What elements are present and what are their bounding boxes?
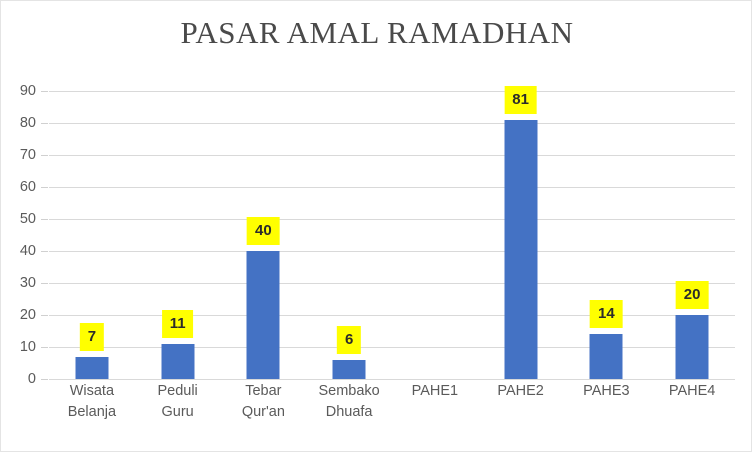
bar-data-label: 7 xyxy=(80,323,104,351)
x-axis-tick-label: TebarQur'an xyxy=(221,381,307,423)
x-axis-tick-label: PAHE1 xyxy=(392,381,478,402)
y-axis-tick-label: 30 xyxy=(0,275,36,291)
bar-data-label: 11 xyxy=(162,310,194,338)
x-axis-tick-label: PAHE4 xyxy=(649,381,735,402)
bar[interactable] xyxy=(75,357,108,379)
y-axis-tick-label: 20 xyxy=(0,307,36,323)
bar-slot: 11 xyxy=(135,91,221,379)
x-axis-tick-label-line: PAHE4 xyxy=(649,381,735,402)
bar[interactable] xyxy=(676,315,709,379)
x-axis-tick-label: PAHE3 xyxy=(564,381,650,402)
bar-slot: 40 xyxy=(221,91,307,379)
x-axis-tick-label-line: Belanja xyxy=(49,402,135,423)
bar[interactable] xyxy=(504,120,537,379)
x-axis-tick-label: SembakoDhuafa xyxy=(306,381,392,423)
x-axis-labels: WisataBelanjaPeduliGuruTebarQur'anSembak… xyxy=(49,381,735,441)
x-axis-tick-label: WisataBelanja xyxy=(49,381,135,423)
bar[interactable] xyxy=(247,251,280,379)
bar-slot xyxy=(392,91,478,379)
x-axis-tick-label-line: Sembako xyxy=(306,381,392,402)
bar-slot: 20 xyxy=(649,91,735,379)
bar-data-label: 20 xyxy=(676,281,709,309)
bar-data-label: 81 xyxy=(504,86,537,114)
bar-data-label: 14 xyxy=(590,300,623,328)
bar-slot: 7 xyxy=(49,91,135,379)
y-axis-tick-mark xyxy=(41,155,48,156)
bar-slot: 6 xyxy=(306,91,392,379)
x-axis-tick-label-line: Qur'an xyxy=(221,402,307,423)
y-axis-tick-mark xyxy=(41,123,48,124)
y-axis-tick-label: 40 xyxy=(0,243,36,259)
y-axis-tick-label: 60 xyxy=(0,179,36,195)
x-axis-tick-label-line: Tebar xyxy=(221,381,307,402)
y-axis-tick-mark xyxy=(41,91,48,92)
x-axis-tick-label-line: PAHE3 xyxy=(564,381,650,402)
y-axis-tick-mark xyxy=(41,347,48,348)
y-axis-tick-mark xyxy=(41,187,48,188)
bar[interactable] xyxy=(333,360,366,379)
y-axis-tick-label: 10 xyxy=(0,339,36,355)
chart-container: PASAR AMAL RAMADHAN 01020304050607080907… xyxy=(0,0,752,452)
x-axis-tick-label-line: Guru xyxy=(135,402,221,423)
bar-data-label: 6 xyxy=(337,326,361,354)
plot-area-wrapper: 0102030405060708090711406811420 xyxy=(49,91,735,379)
x-axis-tick-label-line: PAHE1 xyxy=(392,381,478,402)
plot-area: 0102030405060708090711406811420 xyxy=(49,91,735,379)
x-axis-tick-label-line: Wisata xyxy=(49,381,135,402)
bar-data-label: 40 xyxy=(247,217,280,245)
y-axis-tick-label: 80 xyxy=(0,115,36,131)
x-axis-tick-label-line: Dhuafa xyxy=(306,402,392,423)
axis-baseline xyxy=(49,379,735,380)
x-axis-tick-label-line: PAHE2 xyxy=(478,381,564,402)
x-axis-tick-label: PeduliGuru xyxy=(135,381,221,423)
y-axis-tick-mark xyxy=(41,283,48,284)
y-axis-tick-mark xyxy=(41,219,48,220)
y-axis-tick-mark xyxy=(41,251,48,252)
bar[interactable] xyxy=(590,334,623,379)
bar-slot: 14 xyxy=(564,91,650,379)
y-axis-tick-mark xyxy=(41,315,48,316)
x-axis-tick-label-line: Peduli xyxy=(135,381,221,402)
bar[interactable] xyxy=(161,344,194,379)
x-axis-tick-label: PAHE2 xyxy=(478,381,564,402)
chart-title: PASAR AMAL RAMADHAN xyxy=(1,15,752,51)
y-axis-tick-label: 90 xyxy=(0,83,36,99)
y-axis-tick-label: 70 xyxy=(0,147,36,163)
bar-slot: 81 xyxy=(478,91,564,379)
y-axis-tick-mark xyxy=(41,379,48,380)
y-axis-tick-label: 0 xyxy=(0,371,36,387)
y-axis-tick-label: 50 xyxy=(0,211,36,227)
